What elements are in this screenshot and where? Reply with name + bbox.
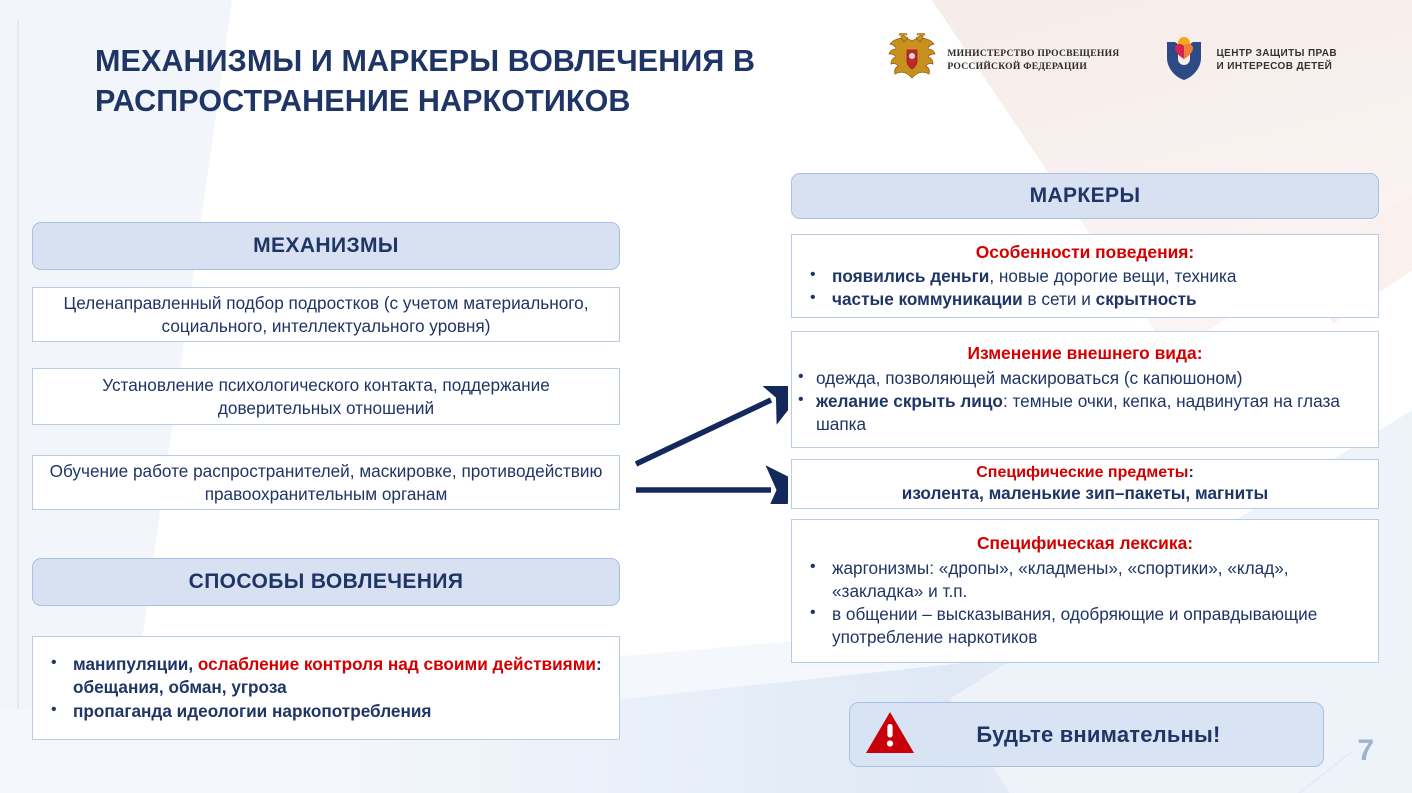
marker-card-behavior-list: появились деньги, новые дорогие вещи, те…	[798, 265, 1372, 311]
logo-ministry-label: МИНИСТЕРСТВО ПРОСВЕЩЕНИЯРОССИЙСКОЙ ФЕДЕР…	[947, 48, 1119, 73]
warning-triangle-icon	[864, 710, 916, 760]
methods-card: манипуляции, ослабление контроля над сво…	[32, 636, 620, 740]
methods-item2-text: пропаганда идеологии наркопотребления	[73, 701, 431, 721]
behavior-b2-bold: частые коммуникации	[832, 289, 1023, 309]
behavior-b1-bold: появились деньги	[832, 266, 989, 286]
methods-list-item-1: манипуляции, ослабление контроля над сво…	[39, 653, 613, 699]
markers-header-label: МАРКЕРЫ	[1030, 184, 1141, 208]
russia-coat-of-arms-icon	[886, 33, 938, 88]
bg-left-edge-line	[17, 20, 19, 780]
behavior-b2-rest: в сети и	[1023, 289, 1096, 309]
list-item: жаргонизмы: «дропы», «кладмены», «спорти…	[798, 557, 1372, 603]
heart-hands-icon	[1161, 35, 1207, 86]
logo-center-label: ЦЕНТР ЗАЩИТЫ ПРАВИ ИНТЕРЕСОВ ДЕТЕЙ	[1216, 48, 1337, 74]
mechanism-card-1: Целенаправленный подбор подростков (с уч…	[32, 287, 620, 342]
warning-banner: Будьте внимательны!	[849, 702, 1324, 767]
list-item: желание скрыть лицо: темные очки, кепка,…	[796, 390, 1374, 436]
marker-card-appearance: Изменение внешнего вида: одежда, позволя…	[791, 331, 1379, 448]
warning-banner-text: Будьте внимательны!	[916, 722, 1323, 748]
methods-item1-plain1: манипуляции,	[73, 654, 198, 674]
appearance-b2-bold: желание скрыть лицо	[816, 391, 1003, 411]
marker-card-behavior-heading: Особенности поведения:	[798, 241, 1372, 264]
marker-card-objects-body: изолента, маленькие зип–пакеты, магниты	[802, 482, 1368, 505]
list-item: частые коммуникации в сети и скрытность	[798, 288, 1372, 311]
mechanism-card-3-text: Обучение работе распространителей, маски…	[47, 460, 605, 506]
list-item: одежда, позволяющей маскироваться (с кап…	[796, 367, 1374, 390]
marker-card-slang-heading: Специфическая лексика:	[798, 532, 1372, 555]
marker-card-objects: Специфические предметы: изолента, малень…	[791, 459, 1379, 509]
mechanism-card-2: Установление психологического контакта, …	[32, 368, 620, 425]
appearance-b1-text: одежда, позволяющей маскироваться (с кап…	[816, 368, 1243, 388]
list-item: появились деньги, новые дорогие вещи, те…	[798, 265, 1372, 288]
behavior-b2-bold2: скрытность	[1096, 289, 1197, 309]
behavior-b1-rest: , новые дорогие вещи, техника	[989, 266, 1236, 286]
marker-card-slang-list: жаргонизмы: «дропы», «кладмены», «спорти…	[798, 557, 1372, 650]
logo-center-for-childrens-rights: ЦЕНТР ЗАЩИТЫ ПРАВИ ИНТЕРЕСОВ ДЕТЕЙ	[1161, 35, 1337, 86]
slide-root: МЕХАНИЗМЫ И МАРКЕРЫ ВОВЛЕЧЕНИЯ В РАСПРОС…	[0, 0, 1412, 793]
mechanisms-header: МЕХАНИЗМЫ	[32, 222, 620, 270]
mechanisms-header-label: МЕХАНИЗМЫ	[253, 234, 399, 258]
methods-list-item-2: пропаганда идеологии наркопотребления	[39, 700, 613, 723]
methods-item1-red: ослабление контроля над своими действиям…	[198, 654, 596, 674]
slang-b2-text: в общении – высказывания, одобряющие и о…	[832, 604, 1317, 647]
marker-card-objects-heading: Специфические предметы	[976, 464, 1188, 481]
marker-card-behavior: Особенности поведения: появились деньги,…	[791, 234, 1379, 318]
connector-arrows	[628, 386, 788, 509]
markers-header: МАРКЕРЫ	[791, 173, 1379, 219]
list-item: в общении – высказывания, одобряющие и о…	[798, 603, 1372, 649]
logo-ministry-of-education: МИНИСТЕРСТВО ПРОСВЕЩЕНИЯРОССИЙСКОЙ ФЕДЕР…	[886, 33, 1119, 88]
marker-card-appearance-heading: Изменение внешнего вида:	[796, 342, 1374, 365]
methods-list: манипуляции, ослабление контроля над сво…	[39, 653, 613, 723]
marker-card-slang: Специфическая лексика: жаргонизмы: «дроп…	[791, 519, 1379, 663]
marker-card-appearance-list: одежда, позволяющей маскироваться (с кап…	[796, 367, 1374, 437]
arrow-diagonal	[636, 400, 771, 464]
page-number: 7	[1357, 734, 1374, 768]
logo-group: МИНИСТЕРСТВО ПРОСВЕЩЕНИЯРОССИЙСКОЙ ФЕДЕР…	[886, 33, 1337, 88]
mechanism-card-3: Обучение работе распространителей, маски…	[32, 455, 620, 510]
slang-b1-text: жаргонизмы: «дропы», «кладмены», «спорти…	[832, 558, 1289, 601]
marker-card-objects-heading-line: Специфические предметы:	[802, 464, 1368, 482]
mechanism-card-2-text: Установление психологического контакта, …	[47, 374, 605, 420]
marker-card-objects-heading-suffix: :	[1188, 464, 1193, 481]
methods-header-label: СПОСОБЫ ВОВЛЕЧЕНИЯ	[189, 570, 464, 594]
page-title: МЕХАНИЗМЫ И МАРКЕРЫ ВОВЛЕЧЕНИЯ В РАСПРОС…	[95, 42, 815, 122]
methods-header: СПОСОБЫ ВОВЛЕЧЕНИЯ	[32, 558, 620, 606]
mechanism-card-1-text: Целенаправленный подбор подростков (с уч…	[47, 292, 605, 338]
